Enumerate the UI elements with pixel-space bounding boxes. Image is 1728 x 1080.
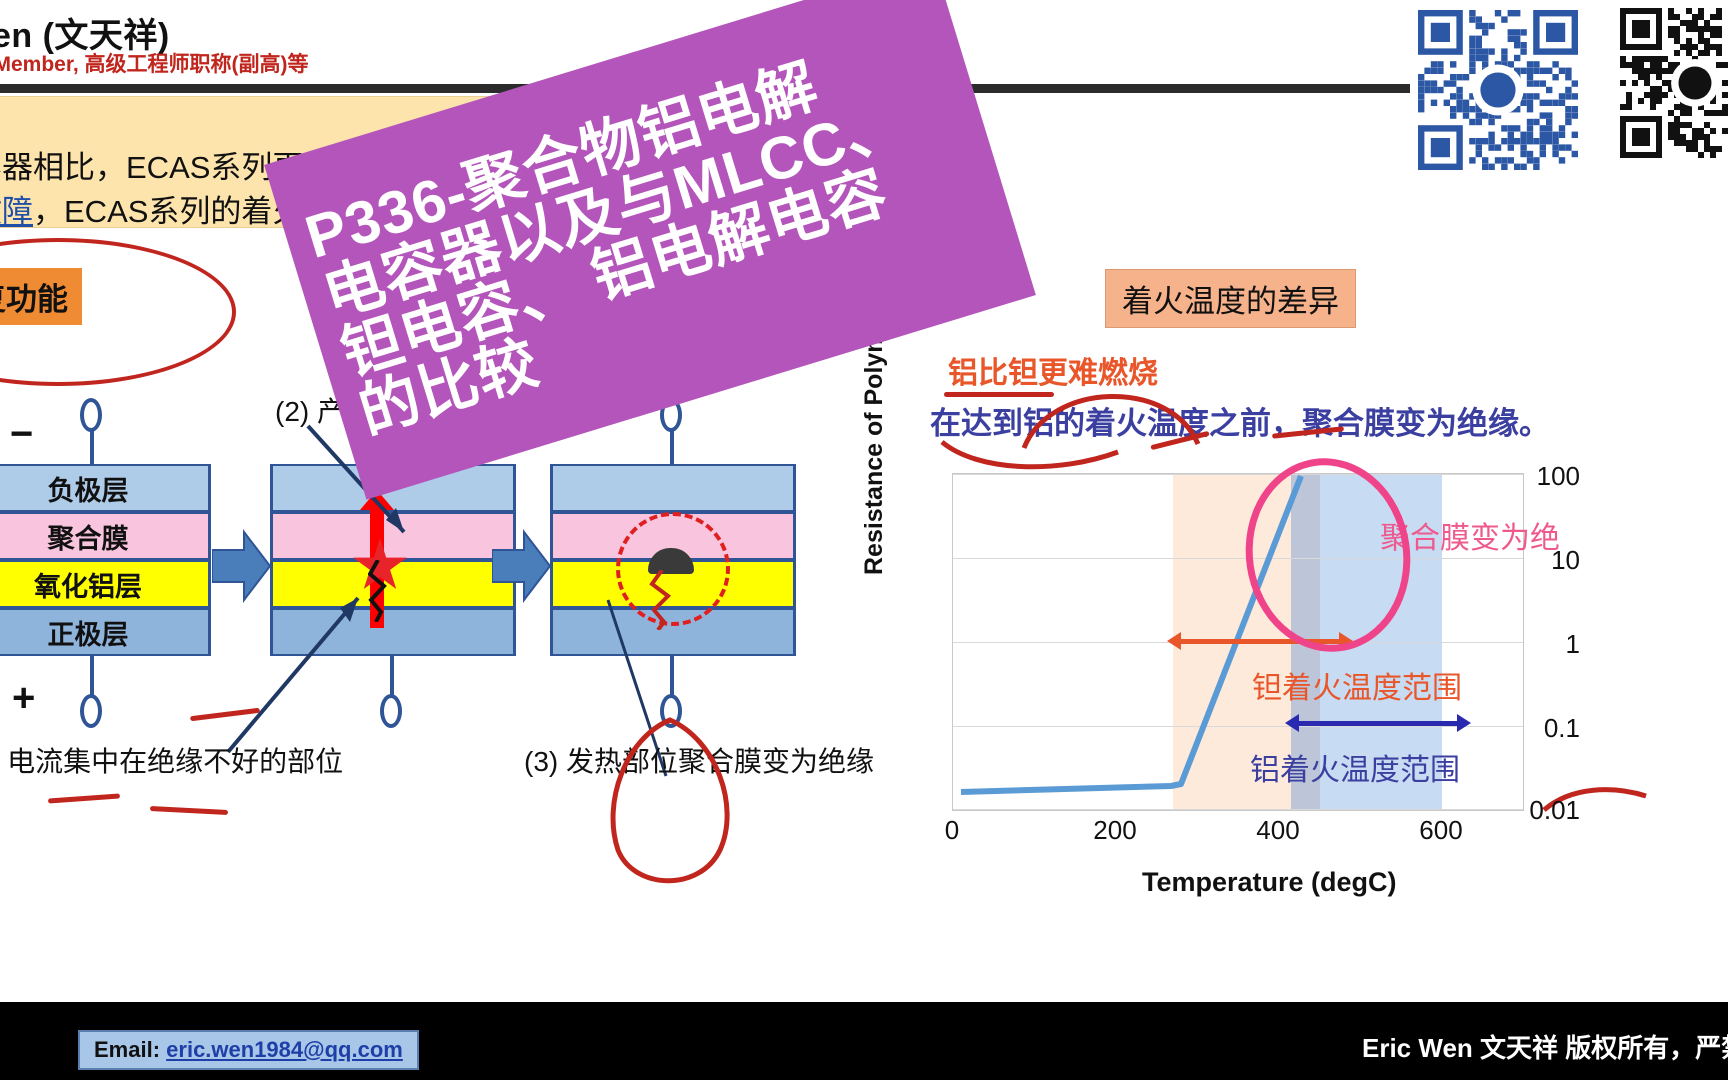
x-tick-200: 200: [1075, 815, 1155, 846]
terminal-bottom-2: [380, 694, 402, 728]
marker-loop-step3: [596, 710, 746, 890]
flow-arrow-2: [492, 528, 552, 604]
y-tick-0.01: 0.01: [1518, 795, 1580, 826]
lead-bottom-2: [390, 656, 394, 696]
purple-title-stamp: P336-聚合物铝电解 电容器以及与MLCC、 钽电容、 铝电解电容 的比较: [264, 0, 1036, 500]
y-tick-1: 1: [1518, 629, 1580, 660]
tag-ignition-temperature-difference: 着火温度的差异: [1105, 269, 1356, 328]
terminal-top-1: [80, 398, 102, 432]
layer-aluminum-oxide: 氧化铝层: [0, 560, 211, 608]
x-tick-400: 400: [1238, 815, 1318, 846]
lead-top-3: [670, 426, 674, 466]
capacitor-stack-1: 负极层 聚合膜 氧化铝层 正极层: [0, 464, 211, 656]
x-tick-0: 0: [912, 815, 992, 846]
tag-self-healing: 修复功能: [0, 268, 82, 325]
email-link[interactable]: eric.wen1984@qq.com: [166, 1037, 403, 1062]
presenter-credential: nior Member, 高级工程师职称(副高)等: [0, 48, 309, 78]
caption-step-1: ) 电流集中在绝缘不好的部位: [0, 740, 343, 780]
callout-link[interactable]: 的故障: [0, 194, 33, 229]
pointer-arrow-step1: [222, 580, 382, 760]
y-tick-0.1: 0.1: [1518, 713, 1580, 744]
aluminum-range-arrow: [1298, 721, 1458, 726]
marker-stroke-3: [150, 806, 228, 815]
bilibili-qr-code[interactable]: [1418, 10, 1578, 170]
layer-negative: 负极层: [0, 464, 211, 512]
layer-negative-3: [550, 464, 796, 512]
chart-x-axis-label: Temperature (degC): [1142, 867, 1397, 898]
email-label: Email:: [94, 1037, 160, 1062]
layer-positive: 正极层: [0, 608, 211, 656]
lead-bottom-1: [90, 656, 94, 696]
footer-copyright: Eric Wen 文天祥 版权所有，严禁侵: [1362, 1028, 1728, 1065]
marker-stroke-2: [48, 793, 120, 803]
minus-sign: −: [10, 412, 33, 457]
lead-top-1: [90, 426, 94, 466]
aluminum-range-label: 铝着火温度范围: [1250, 745, 1460, 789]
terminal-bottom-1: [80, 694, 102, 728]
plus-sign: +: [12, 676, 35, 721]
polymer-resistance-chart: Resistance of Polymer (Ω/cm) 100 10 1 0.…: [880, 455, 1580, 925]
tantalum-range-label: 钽着火温度范围: [1252, 663, 1462, 707]
layer-polymer: 聚合膜: [0, 512, 211, 560]
wechat-qr-code[interactable]: [1620, 8, 1728, 158]
y-tick-100: 100: [1518, 461, 1580, 492]
footer-email-badge[interactable]: Email: eric.wen1984@qq.com: [78, 1030, 419, 1070]
x-tick-600: 600: [1401, 815, 1481, 846]
